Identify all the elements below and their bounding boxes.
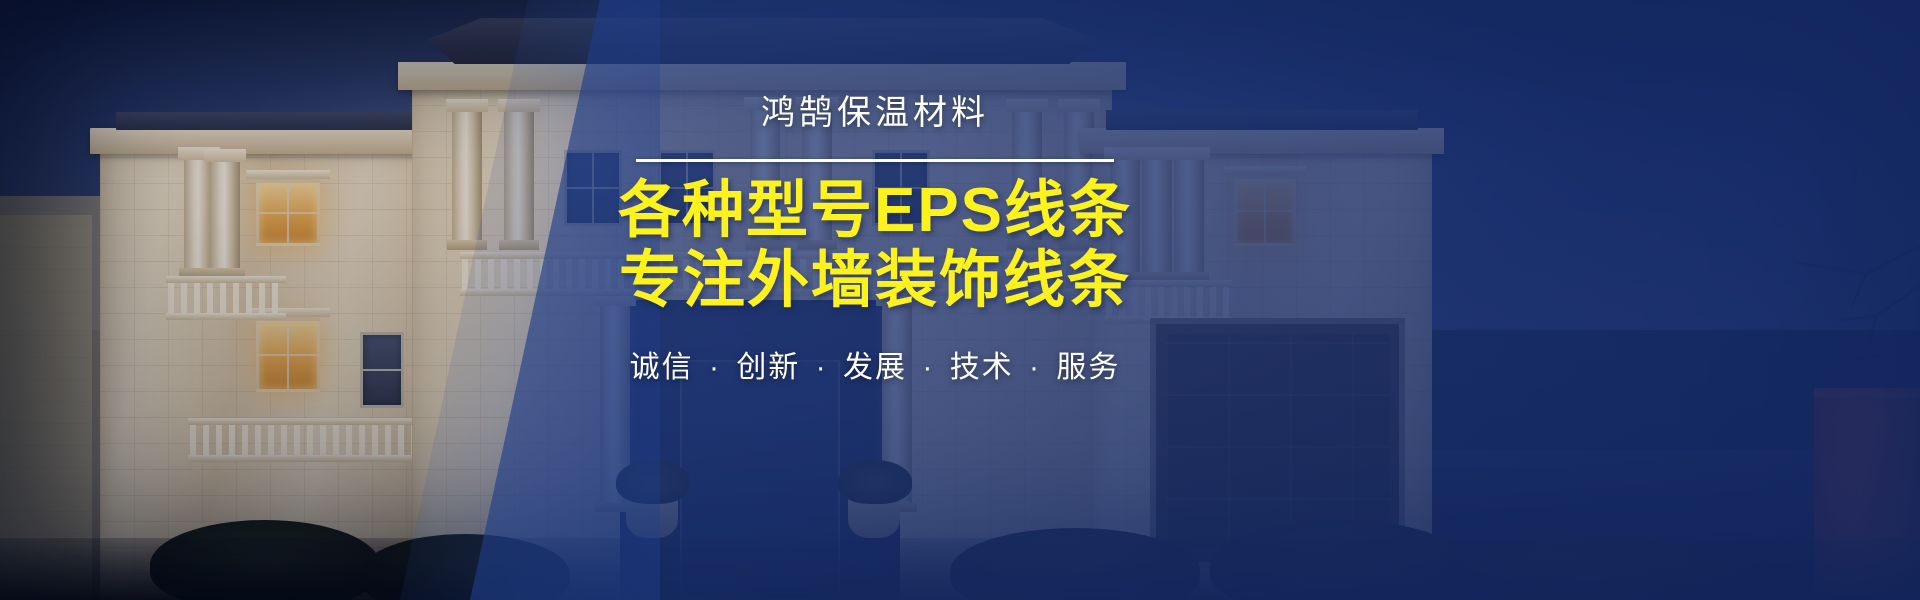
divider-rule [636,159,1114,162]
tagline-separator: · [811,351,833,384]
hero-banner: 鸿鹄保温材料 各种型号EPS线条 专注外墙装饰线条 诚信 · 创新 · 发展 ·… [0,0,1920,600]
tagline-item-5: 服务 [1056,351,1120,384]
headline-line-1: 各种型号EPS线条 [555,176,1195,246]
banner-copy: 鸿鹄保温材料 各种型号EPS线条 专注外墙装饰线条 诚信 · 创新 · 发展 ·… [0,0,1920,600]
tagline-separator: · [917,351,939,384]
tagline-separator: · [1024,351,1046,384]
headline: 各种型号EPS线条 专注外墙装饰线条 [555,176,1195,316]
brand-name: 鸿鹄保温材料 [555,96,1195,130]
copy-inner: 鸿鹄保温材料 各种型号EPS线条 专注外墙装饰线条 诚信 · 创新 · 发展 ·… [555,96,1195,386]
headline-line-2: 专注外墙装饰线条 [555,246,1195,316]
tagline-item-1: 诚信 [630,351,694,384]
tagline-separator: · [704,351,726,384]
tagline: 诚信 · 创新 · 发展 · 技术 · 服务 [555,342,1195,386]
tagline-item-2: 创新 [736,351,800,384]
tagline-item-3: 发展 [843,351,907,384]
tagline-item-4: 技术 [950,351,1014,384]
